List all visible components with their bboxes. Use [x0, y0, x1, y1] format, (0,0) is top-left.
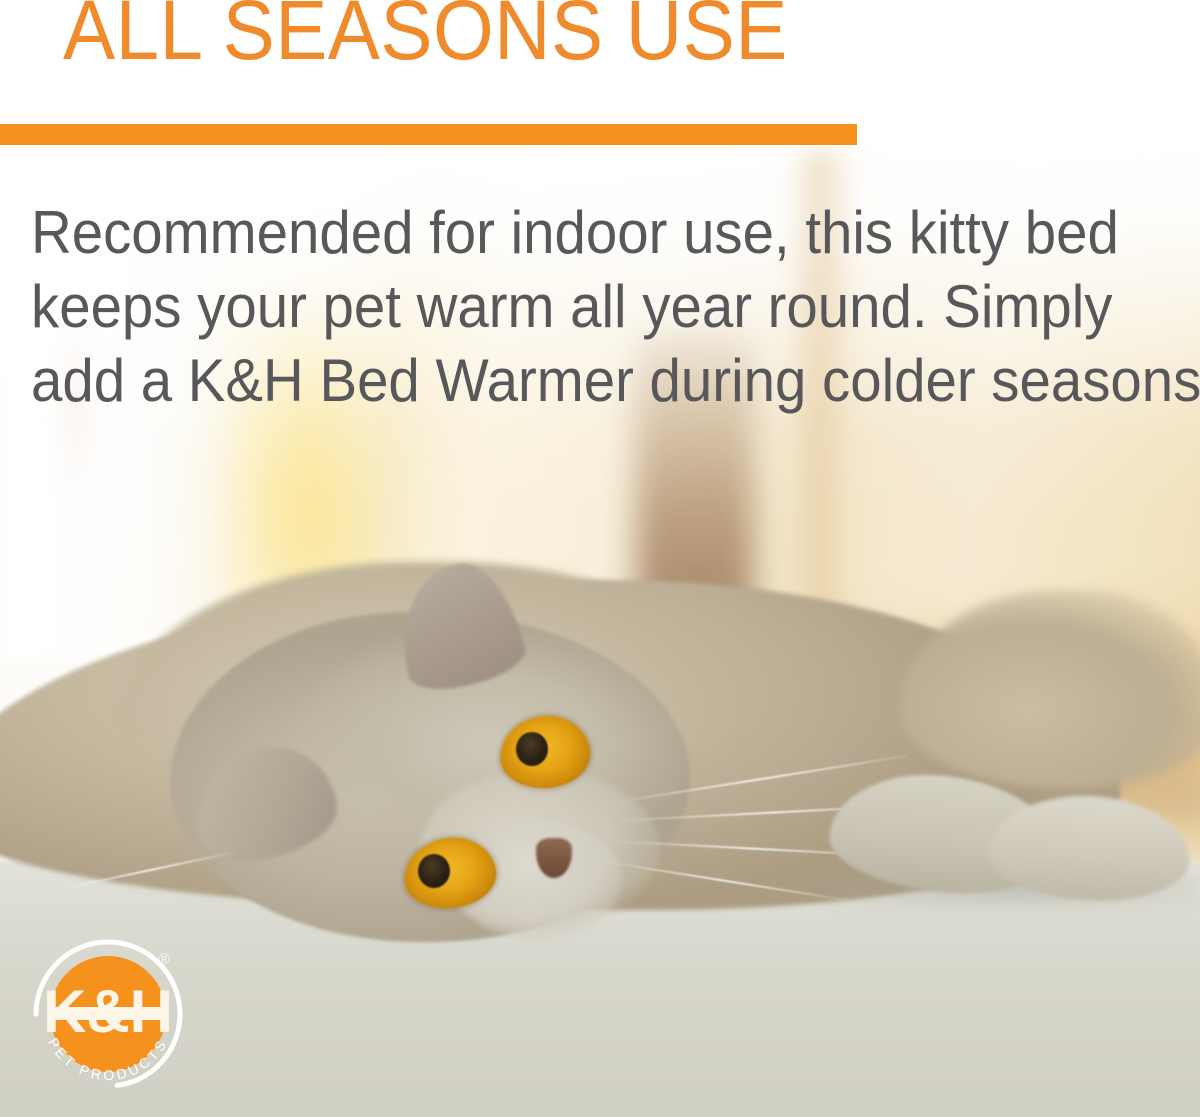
logo-wordmark: K&H: [43, 978, 173, 1045]
cat: [0, 520, 1200, 920]
registered-trademark-icon: ®: [158, 951, 169, 968]
brand-logo: K&H ® PET PRODUCTS: [22, 928, 194, 1100]
description-line: Recommended for indoor use, this kitty b…: [31, 196, 1121, 270]
description-line: add a K&H Bed Warmer during colder seaso…: [31, 344, 1121, 418]
divider: [0, 124, 857, 145]
page-title: ALL SEASONS USE: [63, 0, 788, 72]
cat-haunch: [900, 590, 1200, 790]
marketing-image: ALL SEASONS USE Recommended for indoor u…: [0, 0, 1200, 1117]
description-text: Recommended for indoor use, this kitty b…: [31, 196, 1121, 418]
cat-pupil-lower: [418, 854, 450, 888]
cat-pupil-upper: [516, 732, 548, 766]
description-line: keeps your pet warm all year round. Simp…: [31, 270, 1121, 344]
